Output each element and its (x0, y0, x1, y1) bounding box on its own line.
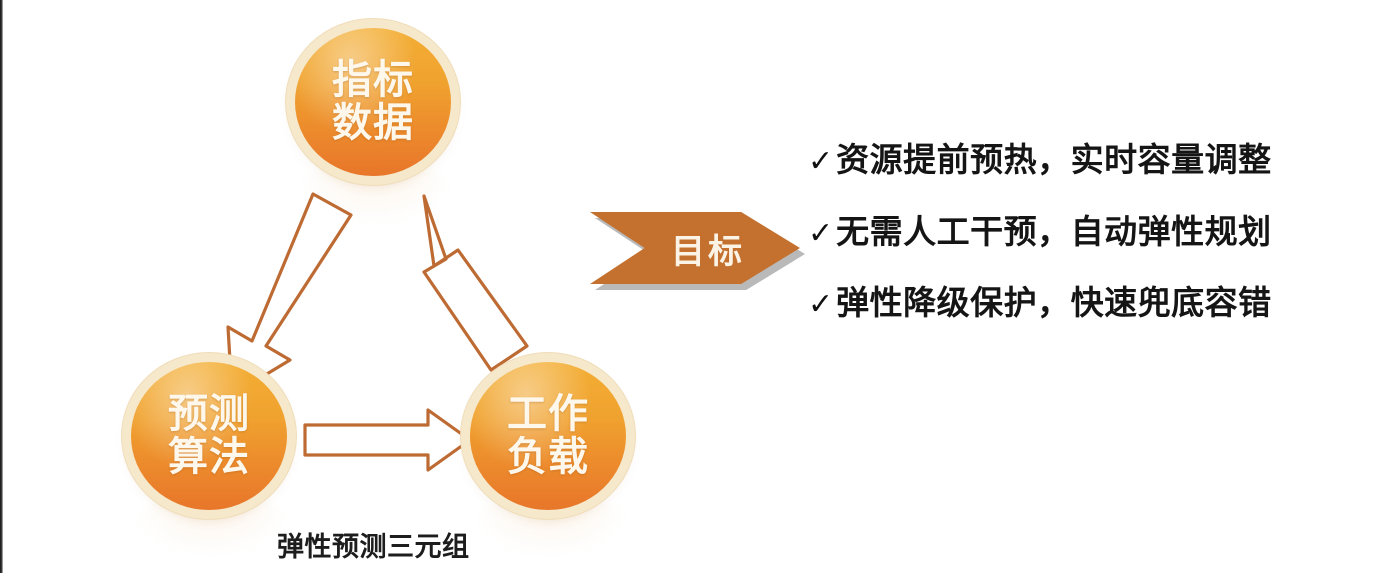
goal-bullet-text: 弹性降级保护，快速兜底容错 (836, 283, 1272, 323)
node-prediction-algorithm-line2: 算法 (168, 436, 250, 479)
node-prediction-algorithm-label: 预测 算法 (168, 393, 250, 479)
slide-canvas: 指标 数据 预测 算法 工作 负载 弹性预测三元组 目标 ✓ 资源提前预热，实时… (0, 0, 1400, 573)
node-metrics-data[interactable]: 指标 数据 (295, 28, 451, 176)
goal-bullet-text: 资源提前预热，实时容量调整 (836, 140, 1272, 180)
node-workload-line2: 负载 (507, 436, 589, 479)
goal-banner-label: 目标 (671, 224, 745, 273)
node-metrics-data-line1: 指标 (332, 58, 414, 102)
node-prediction-algorithm[interactable]: 预测 算法 (131, 362, 287, 510)
node-workload-line1: 工作 (507, 392, 589, 436)
goal-bullet-item: ✓ 资源提前预热，实时容量调整 (808, 140, 1348, 180)
arrow-metrics-to-algorithm (228, 194, 351, 395)
node-metrics-data-line2: 数据 (332, 102, 414, 145)
arrow-algorithm-to-workload (305, 410, 470, 470)
arrow-workload-to-metrics (424, 196, 527, 370)
goal-bullet-text: 无需人工干预，自动弹性规划 (836, 212, 1272, 252)
diagram-caption: 弹性预测三元组 (277, 525, 470, 564)
check-icon: ✓ (808, 219, 833, 249)
goal-bullet-list: ✓ 资源提前预热，实时容量调整 ✓ 无需人工干预，自动弹性规划 ✓ 弹性降级保护… (808, 140, 1348, 323)
check-icon: ✓ (808, 147, 833, 177)
node-workload[interactable]: 工作 负载 (470, 362, 626, 510)
node-workload-label: 工作 负载 (507, 393, 589, 479)
check-icon: ✓ (808, 290, 833, 320)
node-metrics-data-label: 指标 数据 (332, 59, 414, 145)
goal-bullet-item: ✓ 弹性降级保护，快速兜底容错 (808, 283, 1348, 323)
goal-banner: 目标 (590, 212, 800, 284)
slide-frame-edge (0, 0, 3, 573)
goal-bullet-item: ✓ 无需人工干预，自动弹性规划 (808, 212, 1348, 252)
node-prediction-algorithm-line1: 预测 (168, 392, 250, 436)
